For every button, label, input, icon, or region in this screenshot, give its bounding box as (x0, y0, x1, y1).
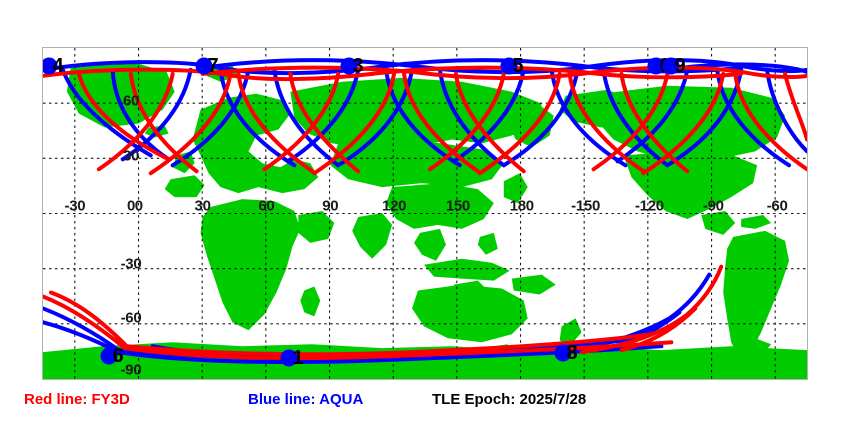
satellite-marker[interactable]: 3 (341, 58, 358, 75)
lat-tick-label: 90 (123, 47, 139, 50)
lon-tick-label: 180 (510, 199, 534, 214)
satellite-marker-label: 8 (567, 343, 578, 363)
lat-tick-label: 30 (123, 149, 139, 164)
satellite-marker-label: 7 (208, 56, 219, 76)
satellite-marker[interactable]: 8 (555, 345, 572, 362)
world-map-svg (43, 48, 807, 379)
satellite-marker-label: 3 (353, 56, 364, 76)
satellite-marker-label: 4 (53, 56, 64, 76)
lon-tick-label: 30 (195, 199, 211, 214)
chart-legend: Red line: FY3D Blue line: AQUA TLE Epoch… (0, 392, 850, 420)
lon-tick-label: -60 (767, 199, 788, 214)
lat-tick-label: 60 (123, 94, 139, 109)
satellite-marker-label: 5 (513, 56, 524, 76)
lon-tick-label: 90 (322, 199, 338, 214)
satellite-marker[interactable]: 4 (42, 58, 58, 75)
lat-tick-label: -30 (121, 257, 142, 272)
satellite-marker-label: 6 (113, 346, 124, 366)
satellite-marker[interactable]: 5 (501, 58, 518, 75)
satellite-marker[interactable]: 6 (101, 348, 118, 365)
legend-blue-line: Blue line: AQUA (248, 392, 363, 407)
satellite-ground-track-map: -30 0 30 60 90 120 150 180 -150 -120 -90… (0, 0, 850, 425)
lon-tick-label: -30 (65, 199, 86, 214)
map-plot-area: -30 0 30 60 90 120 150 180 -150 -120 -90… (42, 47, 808, 380)
satellite-marker-label: 9 (675, 56, 686, 76)
satellite-marker[interactable]: 9 (663, 58, 680, 75)
lon-tick-label: -90 (703, 199, 724, 214)
satellite-marker[interactable]: 1 (281, 350, 298, 367)
lon-tick-label: -150 (571, 199, 600, 214)
lon-tick-label: 60 (258, 199, 274, 214)
lat-tick-label: -60 (121, 311, 142, 326)
lon-tick-label: 150 (446, 199, 470, 214)
legend-red-line: Red line: FY3D (24, 392, 130, 407)
legend-tle-epoch: TLE Epoch: 2025/7/28 (432, 392, 586, 407)
lat-tick-label: -90 (121, 363, 142, 378)
lon-tick-label: -120 (635, 199, 664, 214)
lat-tick-label: 0 (127, 199, 135, 214)
satellite-marker[interactable]: 7 (196, 58, 213, 75)
satellite-marker-label: 1 (293, 348, 304, 368)
lon-tick-label: 0 (135, 199, 143, 214)
lon-tick-label: 120 (382, 199, 406, 214)
